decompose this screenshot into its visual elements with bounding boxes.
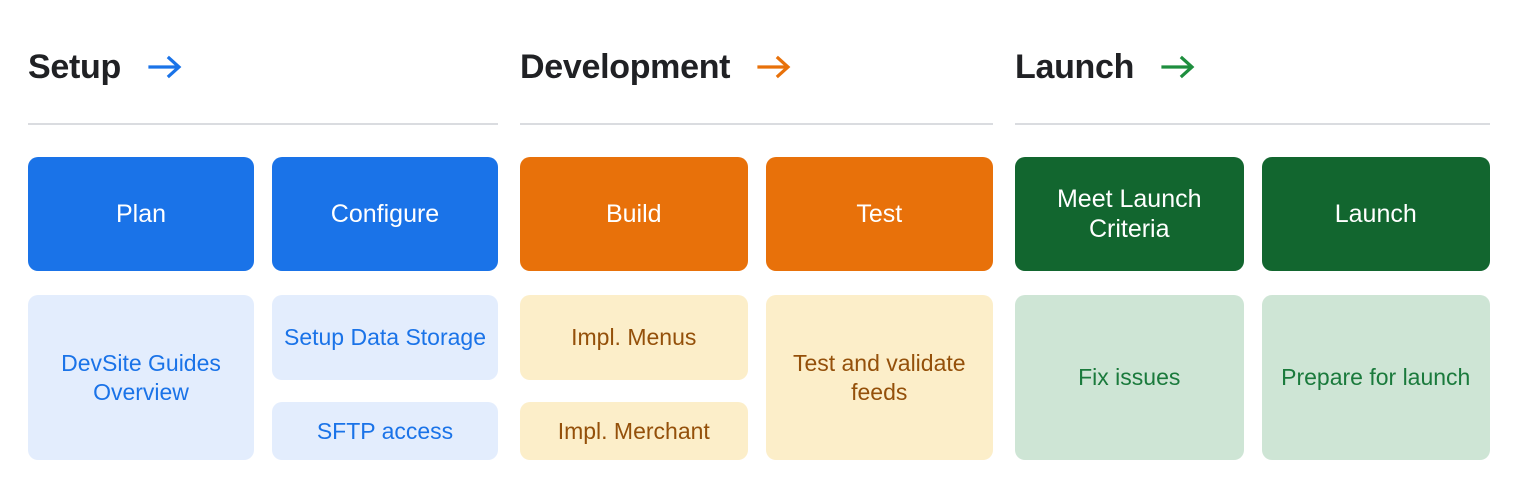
column-plan-tasks: DevSite Guides Overview	[28, 295, 254, 460]
card-spacer	[272, 380, 498, 402]
column-build: Build	[520, 157, 748, 271]
column-launch: Launch	[1262, 157, 1491, 271]
arrow-right-icon	[1160, 52, 1198, 82]
phase-setup-main-row: Plan Configure	[28, 157, 498, 271]
phase-launch-main-row: Meet Launch Criteria Launch	[1015, 157, 1490, 271]
column-test: Test	[766, 157, 994, 271]
card-build[interactable]: Build	[520, 157, 748, 271]
card-launch[interactable]: Launch	[1262, 157, 1491, 271]
card-meet-launch-criteria[interactable]: Meet Launch Criteria	[1015, 157, 1244, 271]
phase-divider-launch	[1015, 123, 1490, 125]
column-meet-launch-criteria: Meet Launch Criteria	[1015, 157, 1244, 271]
column-build-tasks: Impl. Menus Impl. Merchant	[520, 295, 748, 460]
column-plan: Plan	[28, 157, 254, 271]
column-launch-tasks: Prepare for launch	[1262, 295, 1491, 460]
phase-development: Development Build Test Impl. Menus Impl.…	[520, 0, 993, 484]
card-test[interactable]: Test	[766, 157, 994, 271]
column-meet-launch-criteria-tasks: Fix issues	[1015, 295, 1244, 460]
column-configure-tasks: Setup Data Storage SFTP access	[272, 295, 498, 460]
arrow-right-icon	[756, 52, 794, 82]
phase-launch-sub-row: Fix issues Prepare for launch	[1015, 295, 1490, 460]
card-spacer	[520, 380, 748, 402]
phase-launch: Launch Meet Launch Criteria Launch Fix i…	[1015, 0, 1490, 484]
card-setup-data-storage[interactable]: Setup Data Storage	[272, 295, 498, 380]
phase-header-launch: Launch	[1015, 42, 1198, 92]
card-fix-issues[interactable]: Fix issues	[1015, 295, 1244, 460]
phase-setup: Setup Plan Configure DevSite Guides Over…	[28, 0, 498, 484]
card-impl-menus[interactable]: Impl. Menus	[520, 295, 748, 380]
arrow-right-icon	[147, 52, 185, 82]
card-plan[interactable]: Plan	[28, 157, 254, 271]
card-prepare-for-launch[interactable]: Prepare for launch	[1262, 295, 1491, 460]
phase-header-development: Development	[520, 42, 794, 92]
card-impl-merchant[interactable]: Impl. Merchant	[520, 402, 748, 460]
phases-board: Setup Plan Configure DevSite Guides Over…	[0, 0, 1518, 484]
card-sftp-access[interactable]: SFTP access	[272, 402, 498, 460]
phase-setup-sub-row: DevSite Guides Overview Setup Data Stora…	[28, 295, 498, 460]
card-devsite-guides-overview[interactable]: DevSite Guides Overview	[28, 295, 254, 460]
page-title-setup: Setup	[28, 50, 121, 84]
column-test-tasks: Test and validate feeds	[766, 295, 994, 460]
phase-divider-development	[520, 123, 993, 125]
phase-development-main-row: Build Test	[520, 157, 993, 271]
page-title-development: Development	[520, 50, 730, 84]
phase-header-setup: Setup	[28, 42, 185, 92]
column-configure: Configure	[272, 157, 498, 271]
card-configure[interactable]: Configure	[272, 157, 498, 271]
card-test-and-validate-feeds[interactable]: Test and validate feeds	[766, 295, 994, 460]
phase-development-sub-row: Impl. Menus Impl. Merchant Test and vali…	[520, 295, 993, 460]
page-title-launch: Launch	[1015, 50, 1134, 84]
phase-divider-setup	[28, 123, 498, 125]
